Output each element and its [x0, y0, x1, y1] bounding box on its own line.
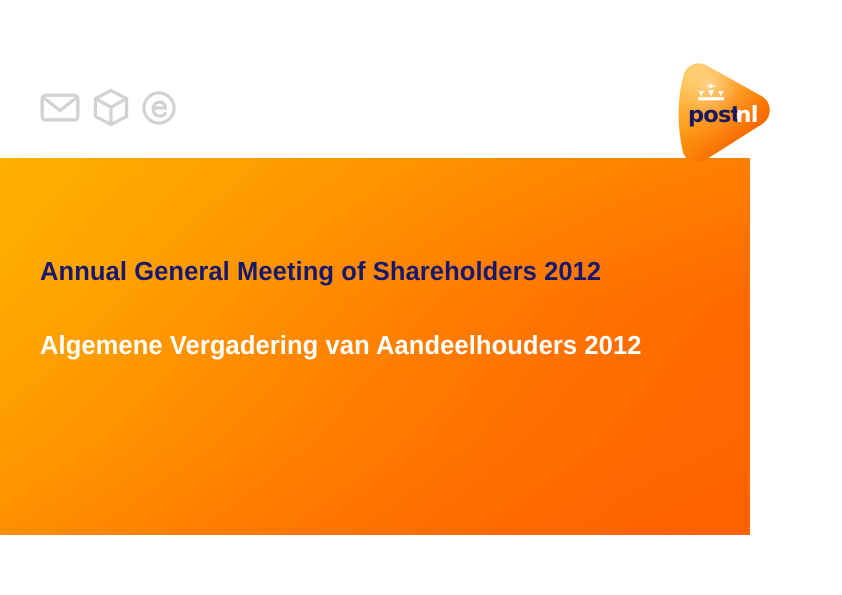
page-title-english: Annual General Meeting of Shareholders 2… — [40, 258, 740, 287]
title-block: Annual General Meeting of Shareholders 2… — [40, 258, 740, 361]
service-icon-strip — [40, 88, 176, 127]
parcel-box-icon — [93, 88, 129, 127]
slide-canvas: Annual General Meeting of Shareholders 2… — [0, 0, 842, 595]
title-band: Annual General Meeting of Shareholders 2… — [0, 158, 750, 535]
at-email-icon — [142, 91, 176, 125]
postnl-logo: post nl — [668, 58, 778, 170]
envelope-icon — [40, 93, 80, 122]
page-title-dutch: Algemene Vergadering van Aandeelhouders … — [40, 332, 740, 361]
